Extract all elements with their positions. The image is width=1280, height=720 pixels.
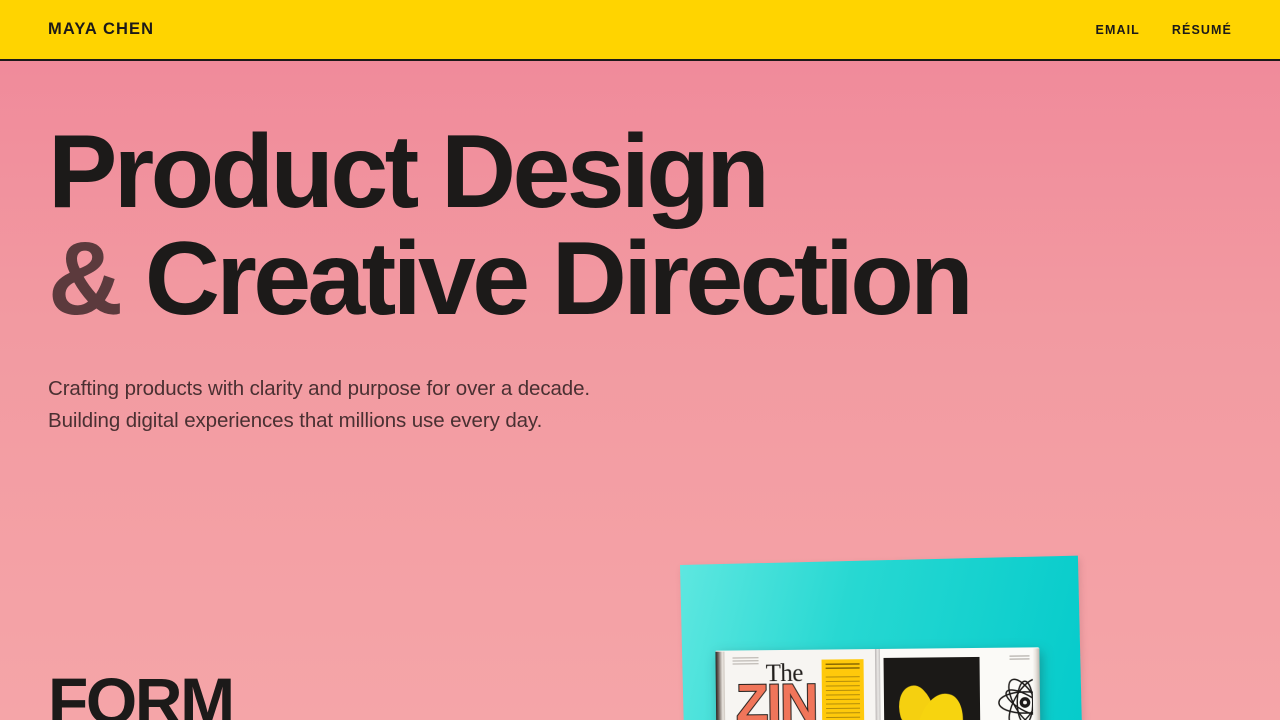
black-art-panel	[884, 657, 981, 720]
brand-wordmark[interactable]: MAYA CHEN	[48, 20, 154, 39]
subtitle-line-1: Crafting products with clarity and purpo…	[48, 373, 1232, 405]
page-title: Product Design & Creative Direction	[0, 61, 1280, 330]
magazine-title: ZIN	[736, 682, 817, 720]
sidebar-headline-lines	[826, 663, 860, 671]
page-edge-left	[715, 652, 725, 720]
page-masthead-lines	[733, 657, 759, 664]
nav-link-email[interactable]: EMAIL	[1096, 23, 1140, 37]
hero-photograph: The ZIN	[660, 552, 1100, 720]
headline-line-2: & Creative Direction	[48, 223, 1232, 330]
headline-line-1: Product Design	[48, 61, 1232, 223]
subtitle-line-2: Building digital experiences that millio…	[48, 405, 1232, 437]
magazine-left-page: The ZIN	[715, 649, 878, 720]
headline-ampersand: &	[48, 221, 120, 337]
nav-link-resume[interactable]: RÉSUMÉ	[1172, 23, 1232, 37]
site-header: MAYA CHEN EMAIL RÉSUMÉ	[0, 0, 1280, 61]
hero-section: Product Design & Creative Direction Craf…	[0, 61, 1280, 438]
sidebar-body-lines	[826, 676, 861, 720]
hero-subtitle: Crafting products with clarity and purpo…	[0, 373, 1280, 438]
portfolio-landing-page: MAYA CHEN EMAIL RÉSUMÉ Product Design & …	[0, 0, 1280, 720]
magazine-right-page	[877, 647, 1040, 720]
page-edge-right	[1032, 648, 1040, 720]
headline-line-2-text: Creative Direction	[145, 221, 970, 337]
open-magazine: The ZIN	[715, 647, 1040, 720]
page-folio-lines	[1010, 655, 1030, 661]
section-heading-form: FORM	[48, 668, 233, 720]
magazine-spread: The ZIN	[715, 647, 1040, 720]
primary-navigation: EMAIL RÉSUMÉ	[1096, 23, 1232, 37]
magazine-yellow-sidebar	[822, 659, 865, 720]
